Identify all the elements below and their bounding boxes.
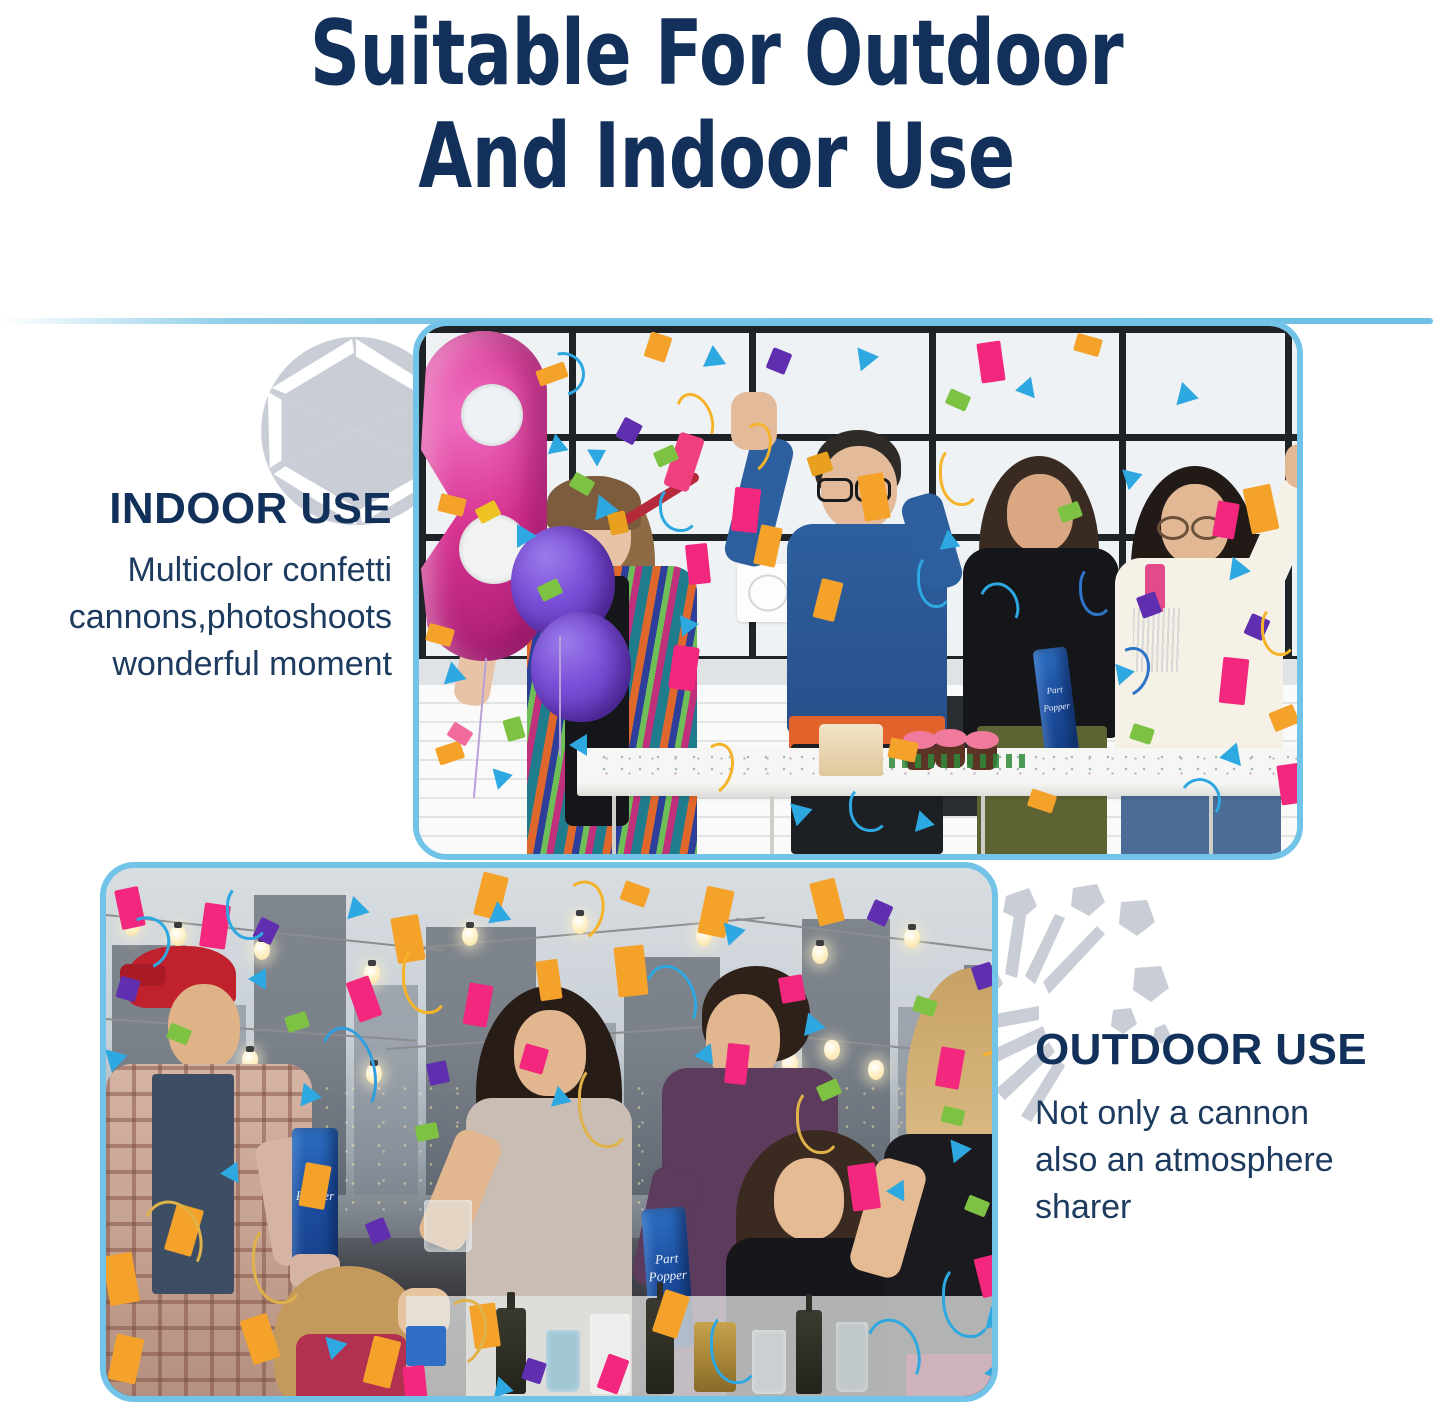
product-feature-image: Suitable For OutdoorAnd Indoor Use <box>0 0 1433 1402</box>
indoor-body-line-1: Multicolor confetti <box>127 551 392 589</box>
indoor-body-line-3: wonderful moment <box>112 645 392 683</box>
outdoor-use-description: Not only a cannonalso an atmosphereshare… <box>1035 1090 1433 1231</box>
headline-line-1: Suitable For Outdoor <box>310 1 1123 106</box>
cup-4 <box>836 1322 868 1392</box>
indoor-use-description: Multicolor confetticannons,photoshootswo… <box>0 547 392 688</box>
cake <box>819 724 883 776</box>
page-title: Suitable For OutdoorAnd Indoor Use <box>100 2 1332 208</box>
outdoor-use-text-block: OUTDOOR USE Not only a cannonalso an atm… <box>1035 1025 1433 1231</box>
indoor-use-heading: INDOOR USE <box>0 484 392 534</box>
bottle-3 <box>796 1310 822 1394</box>
outdoor-use-heading: OUTDOOR USE <box>1035 1025 1433 1075</box>
outdoor-use-photo: PartPopper <box>100 862 998 1402</box>
outdoor-body-line-3: sharer <box>1035 1188 1131 1226</box>
outdoor-party-scene: PartPopper <box>106 868 992 1396</box>
outdoor-body-line-2: also an atmosphere <box>1035 1141 1334 1179</box>
indoor-party-scene: PartPopper <box>419 326 1297 854</box>
purple-balloon-2 <box>531 612 631 722</box>
headline-line-2: And Indoor Use <box>418 104 1014 209</box>
indoor-use-photo: PartPopper <box>413 320 1303 860</box>
drink-glass <box>424 1200 472 1252</box>
indoor-use-text-block: INDOOR USE Multicolor confetticannons,ph… <box>0 484 392 688</box>
indoor-body-line-2: cannons,photoshoots <box>69 598 392 636</box>
outdoor-body-line-1: Not only a cannon <box>1035 1094 1309 1132</box>
cup-1 <box>546 1330 580 1392</box>
